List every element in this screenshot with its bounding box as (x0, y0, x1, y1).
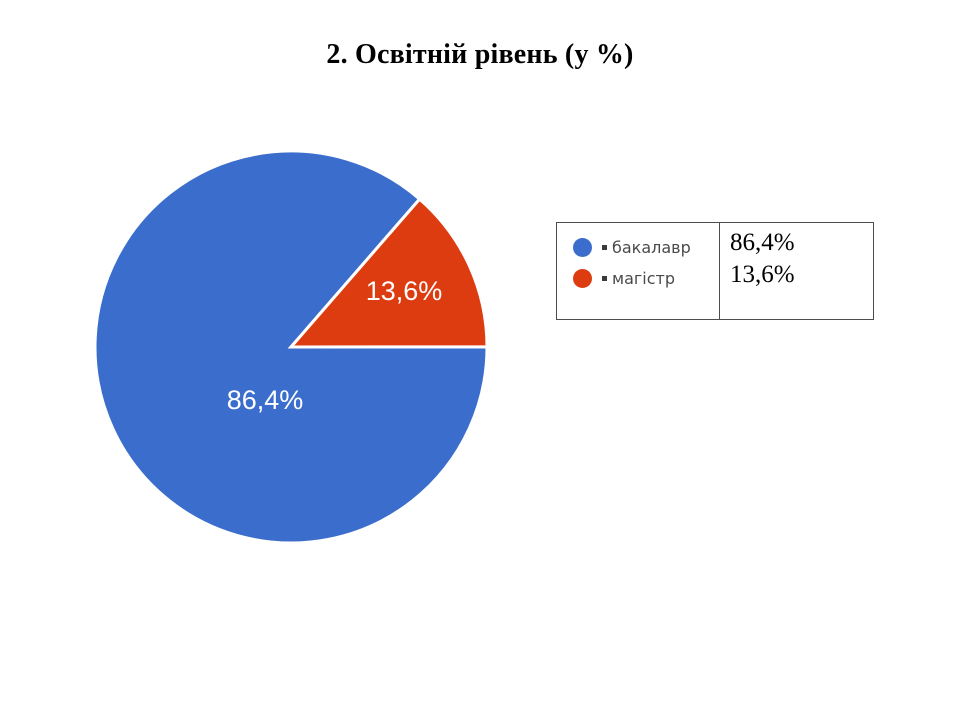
slide-canvas: 2. Освітній рівень (у %) 86,4% 13,6% бак… (0, 0, 960, 720)
legend-row-bakalavr[interactable]: бакалавр (573, 232, 719, 263)
legend-table: бакалавр магістр 86,4% 13,6% (556, 222, 874, 320)
legend-keys-column: бакалавр магістр (557, 223, 720, 319)
legend-value-bakalavr: 86,4% (730, 227, 873, 259)
page-title: 2. Освітній рівень (у %) (0, 38, 960, 72)
bullet-square-icon (602, 245, 607, 250)
pie-slice-label-magistr: 13,6% (366, 276, 443, 306)
legend-values-column: 86,4% 13,6% (720, 223, 873, 319)
legend-row-magistr[interactable]: магістр (573, 263, 719, 294)
legend-label-magistr: магістр (612, 270, 675, 288)
red-circle-icon (573, 269, 592, 288)
legend-label-bakalavr: бакалавр (612, 239, 691, 257)
bullet-square-icon (602, 276, 607, 281)
pie-slice-label-bakalavr: 86,4% (227, 385, 304, 415)
pie-chart-svg: 86,4% 13,6% (90, 146, 496, 552)
blue-circle-icon (573, 238, 592, 257)
pie-chart: 86,4% 13,6% (90, 146, 496, 552)
legend-value-magistr: 13,6% (730, 259, 873, 291)
